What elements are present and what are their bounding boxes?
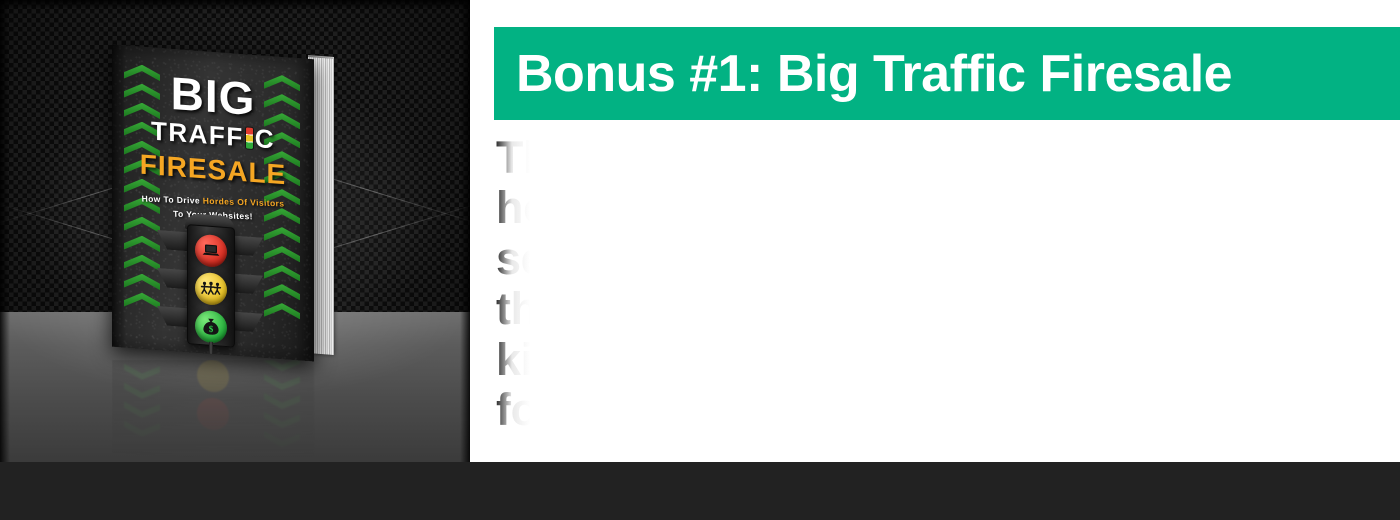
book-reflection: [112, 360, 362, 460]
money-bag-icon: $: [202, 317, 220, 336]
traffic-light-letter-i-icon: [246, 127, 253, 149]
description-line: for all along.: [496, 385, 1400, 435]
panel-edge-shade-right: [460, 0, 470, 462]
svg-text:$: $: [209, 324, 214, 334]
description-line: The Big Traffic Firesale shows you: [496, 133, 1400, 183]
cover-subtitle-highlight: Hordes Of Visitors: [203, 196, 285, 209]
traffic-light-visor-right: [233, 235, 263, 256]
bonus-description: The Big Traffic Firesale shows you how t…: [496, 133, 1400, 435]
traffic-light-visor-left: [157, 306, 187, 327]
description-line: how to generate massive amounts of: [496, 183, 1400, 233]
traffic-light-yellow-lamp: [195, 272, 227, 306]
description-line: searing hot traffic to your websites so: [496, 234, 1400, 284]
traffic-light-visor-right: [233, 273, 263, 294]
traffic-light-visor-left: [157, 268, 187, 289]
book-front-cover: BIG TRAFFC FIRESALE How To Drive Hordes …: [112, 45, 314, 362]
ebook-cover: BIG TRAFFC FIRESALE How To Drive Hordes …: [112, 52, 362, 362]
traffic-light-green-lamp: $: [195, 310, 227, 344]
running-people-icon: [200, 280, 222, 298]
traffic-light-visor-left: [157, 230, 187, 251]
panel-edge-shade-left: [0, 0, 10, 462]
description-line: kind of results you have been hoping: [496, 335, 1400, 385]
traffic-light-illustration: $: [147, 219, 279, 361]
traffic-light-visor-right: [233, 311, 263, 332]
panel-edge-shade-top: [0, 0, 470, 10]
cover-title-traffic-part-b: C: [255, 122, 275, 156]
traffic-light-red-lamp: [195, 234, 227, 268]
traffic-light-pole: [209, 342, 213, 362]
traffic-light-housing: $: [187, 224, 235, 348]
bottom-bar: [0, 462, 1400, 520]
product-image-panel: BIG TRAFFC FIRESALE How To Drive Hordes …: [0, 0, 470, 462]
cover-subtitle-pre: How To Drive: [141, 193, 203, 205]
cover-typography: BIG TRAFFC FIRESALE How To Drive Hordes …: [112, 67, 314, 231]
bonus-header-bar: Bonus #1: Big Traffic Firesale: [494, 27, 1400, 120]
description-line: that you can finally start seeing the: [496, 284, 1400, 334]
page-title: Bonus #1: Big Traffic Firesale: [516, 44, 1232, 104]
laptop-icon: [202, 243, 220, 258]
